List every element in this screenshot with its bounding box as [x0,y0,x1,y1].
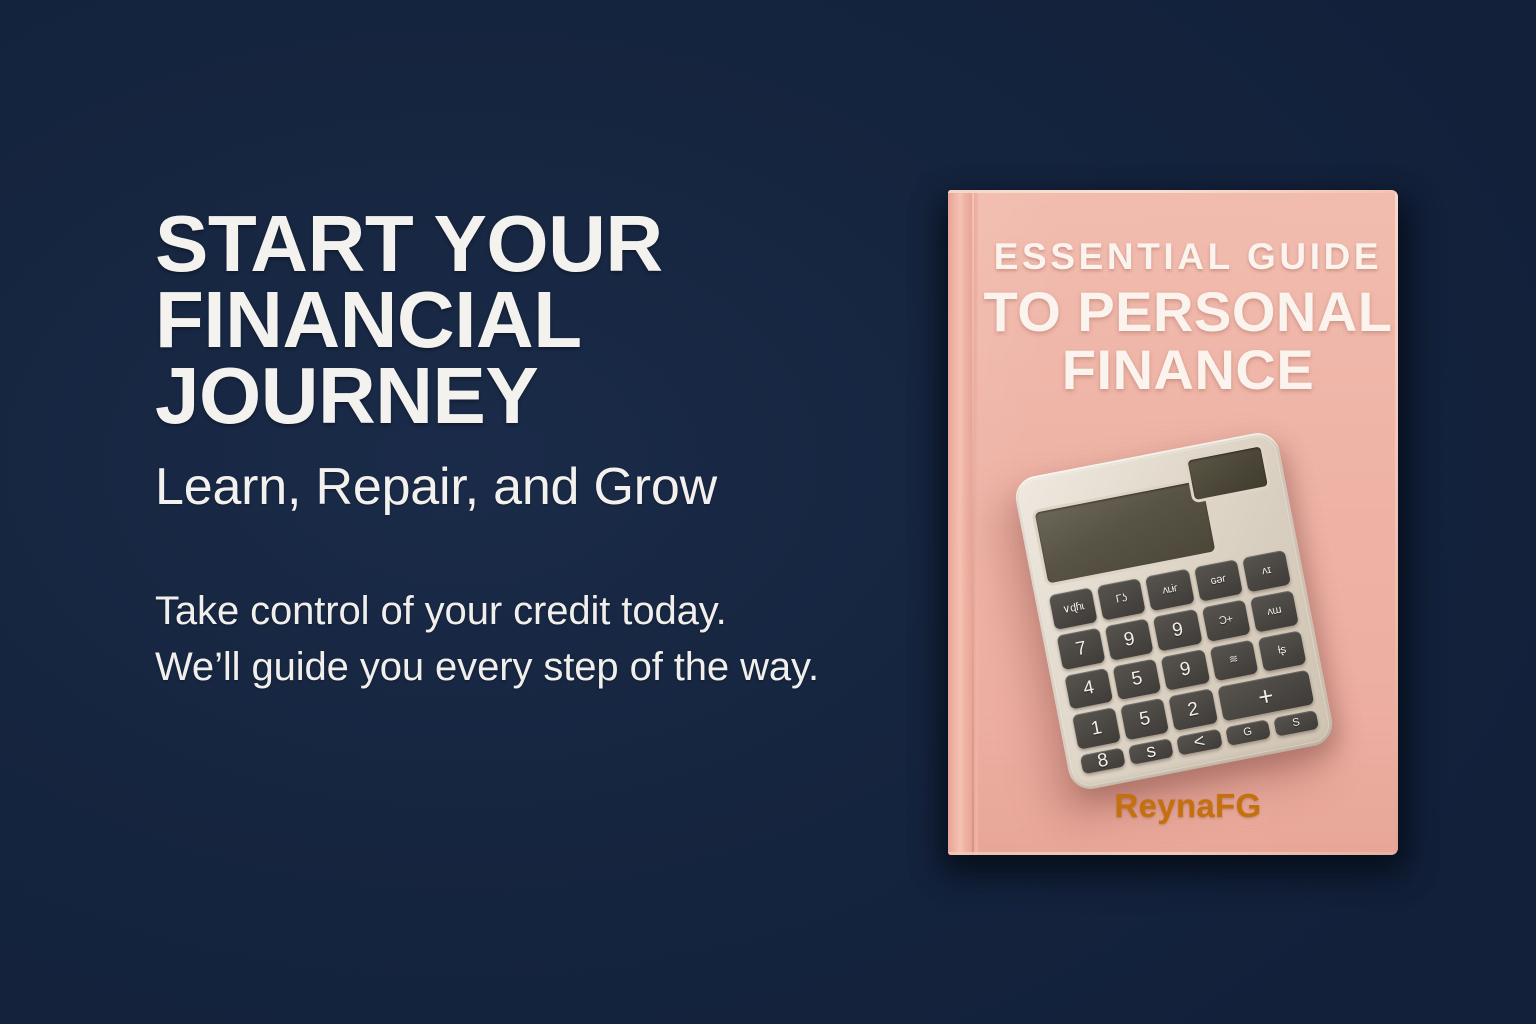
hero-body-line-1: Take control of your credit today. [155,583,975,640]
page-title: START YOUR FINANCIAL JOURNEY [155,206,975,434]
calculator-key: 4 [1064,667,1113,709]
calculator-key: ≋ [1209,639,1258,681]
cover-edge-top [948,190,1398,193]
book-spine-highlight [972,190,974,855]
calculator-key: Ɔ+ [1201,599,1250,641]
promo-banner: START YOUR FINANCIAL JOURNEY Learn, Repa… [0,0,1536,1024]
calculator-key: 2 [1169,689,1218,731]
calculator-key: ʌʟɨɾ [1145,569,1194,611]
calculator-key: ɢǝɾ [1194,559,1243,601]
calculator-key: 9 [1153,609,1202,651]
calculator-key: ʌɪ [1242,550,1291,592]
book-cover-title: ESSENTIAL GUIDE TO PERSONAL FINANCE [978,238,1398,398]
calculator-key: 7 [1057,627,1106,669]
book-cover: ESSENTIAL GUIDE TO PERSONAL FINANCE ∨ɖɦɩ… [948,190,1398,855]
book-cover-kicker: ESSENTIAL GUIDE [978,238,1398,275]
calculator-key: 5 [1113,658,1162,700]
calculator-key: 9 [1105,618,1154,660]
book-mockup: ESSENTIAL GUIDE TO PERSONAL FINANCE ∨ɖɦɩ… [948,190,1398,855]
calculator-key: ∨ɖɦɩ [1049,587,1098,629]
book-cover-title-line-2: FINANCE [978,341,1398,399]
calculator-key: 5 [1120,698,1169,740]
cover-edge-bottom [948,852,1398,855]
book-cover-title-line-1: TO PERSONAL [978,275,1398,341]
brand-logo: ReynaFG [978,787,1398,825]
hero-subheadline: Learn, Repair, and Grow [155,434,975,515]
calculator-key: Ɨʂ [1257,630,1306,672]
calculator-key: 9 [1161,649,1210,691]
calculator-key: Γʖ [1097,578,1146,620]
hero-body-line-2: We’ll guide you every step of the way. [155,639,975,696]
hero-copy-block: START YOUR FINANCIAL JOURNEY Learn, Repa… [155,206,975,696]
calculator-key: ʌɯ [1250,590,1299,632]
hero-body-copy: Take control of your credit today. We’ll… [155,515,975,697]
calculator-key: 1 [1072,707,1121,749]
